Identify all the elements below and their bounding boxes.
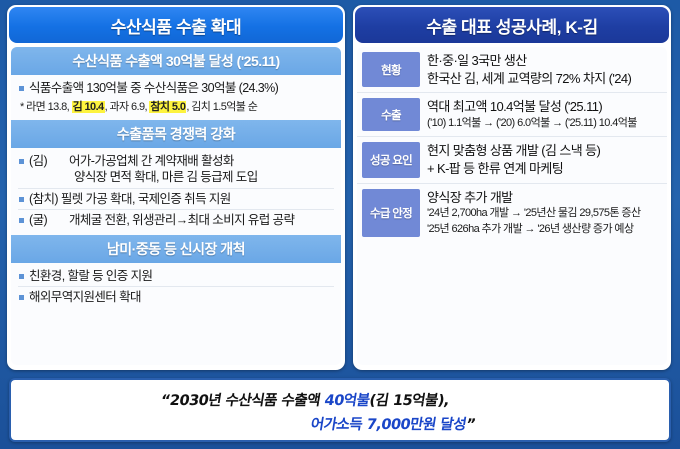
quote-text: (김 15억불), [368,393,450,409]
row-line-sub: ('10) 1.1억불 → ('20) 6.0억불 → ('25.11) 10.… [427,116,661,131]
table-row: 성공 요인 현지 맞춤형 상품 개발 (김 스낵 등) + K-팝 등 한류 연… [357,136,667,182]
row-label-supply-stability: 수급 안정 [362,189,420,237]
bullet-item: (굴)개체굴 전환, 위생관리→최대 소비지 유럽 공략 [18,209,334,231]
section-note-breakdown: * 라면 13.8, 김 10.4, 과자 6.9, 참치 5.0, 김치 1.… [18,99,334,116]
bullet-square-icon [19,274,24,279]
quote-text: ” [465,417,477,433]
row-line: 양식장 추가 개발 [427,189,661,207]
bullet-tag-tuna: (참치) [29,192,58,206]
note-part: , 과자 6.9, [105,101,150,113]
table-row: 수출 역대 최고액 10.4억불 달성 ('25.11) ('10) 1.1억불… [357,92,667,136]
right-panel-body: 현황 한·중·일 3국만 생산 한국산 김, 세계 교역량의 72% 차지 ('… [357,47,667,365]
goal-quote-line-2: 어가소득 7,000만원 달성” [309,413,477,434]
panels-container: 수산식품 수출 확대 수산식품 수출액 30억불 달성 ('25.11) 식품수… [0,0,680,370]
row-label-status: 현황 [362,52,420,87]
goal-quote-line-1: “2030년 수산식품 수출액 40억불(김 15억불), [159,389,450,410]
bullet-item: 식품수출액 130억불 중 수산식품은 30억불 (24.3%) [18,78,334,99]
row-line: 역대 최고액 10.4억불 달성 ('25.11) [427,98,661,116]
goal-banner: “2030년 수산식품 수출액 40억불(김 15억불), 어가소득 7,000… [9,378,671,442]
section-heading-competitiveness: 수출품목 경쟁력 강화 [11,120,341,148]
bullet-tag-oyster: (굴) [29,212,69,229]
bullet-item: (참치) 필렛 가공 확대, 국제인증 취득 지원 [18,188,334,210]
note-highlight-tuna: 참치 5.0 [149,101,186,113]
quote-text: “2030년 수산식품 수출액 [159,393,325,409]
bullet-text: 어가-가공업체 간 계약재배 활성화 [69,154,234,168]
right-panel-title: 수출 대표 성공사례, K-김 [355,7,669,43]
bullet-tag-gim: (김) [29,153,69,170]
bullet-square-icon [19,86,24,91]
table-row: 수급 안정 양식장 추가 개발 '24년 2,700ha 개발 → '25년산 … [357,183,667,242]
bullet-item: 해외무역지원센터 확대 [18,286,334,308]
row-line: 현지 맞춤형 상품 개발 (김 스낵 등) [427,142,661,160]
row-content: 역대 최고액 10.4억불 달성 ('25.11) ('10) 1.1억불 → … [427,98,661,131]
note-part: , 김치 1.5억불 순 [186,101,257,113]
bullet-text: 친환경, 할랄 등 인증 지원 [29,268,334,285]
bullet-text: 해외무역지원센터 확대 [29,289,334,306]
bullet-text-secondary: 양식장 면적 확대, 마른 김 등급제 도입 [29,169,334,186]
row-label-success-factor: 성공 요인 [362,142,420,177]
section-body-exports: 식품수출액 130억불 중 수산식품은 30억불 (24.3%) * 라면 13… [11,75,341,120]
note-highlight-gim: 김 10.4 [72,101,105,113]
bullet-item: 친환경, 할랄 등 인증 지원 [18,266,334,287]
bullet-item: (김)어가-가공업체 간 계약재배 활성화 양식장 면적 확대, 마른 김 등급… [18,151,334,188]
row-content: 현지 맞춤형 상품 개발 (김 스낵 등) + K-팝 등 한류 연계 마케팅 [427,142,661,177]
quote-accent-amount: 40억불 [323,393,370,409]
row-line: 한국산 김, 세계 교역량의 72% 차지 ('24) [427,70,661,88]
row-label-export: 수출 [362,98,420,131]
quote-accent-income: 어가소득 7,000만원 달성 [309,417,467,433]
bullet-text: 식품수출액 130억불 중 수산식품은 30억불 (24.3%) [29,80,334,97]
row-line: + K-팝 등 한류 연계 마케팅 [427,160,661,178]
left-panel-title: 수산식품 수출 확대 [9,7,343,43]
section-body-competitiveness: (김)어가-가공업체 간 계약재배 활성화 양식장 면적 확대, 마른 김 등급… [11,148,341,235]
left-panel: 수산식품 수출 확대 수산식품 수출액 30억불 달성 ('25.11) 식품수… [7,5,345,370]
section-heading-exports: 수산식품 수출액 30억불 달성 ('25.11) [11,47,341,75]
left-panel-body: 수산식품 수출액 30억불 달성 ('25.11) 식품수출액 130억불 중 … [11,47,341,365]
section-body-new-markets: 친환경, 할랄 등 인증 지원 해외무역지원센터 확대 [11,263,341,312]
right-panel: 수출 대표 성공사례, K-김 현황 한·중·일 3국만 생산 한국산 김, 세… [353,5,671,370]
bullet-square-icon [19,197,24,202]
bullet-text: 개체굴 전환, 위생관리→최대 소비지 유럽 공략 [69,213,294,227]
row-content: 양식장 추가 개발 '24년 2,700ha 개발 → '25년산 물김 29,… [427,189,661,237]
row-content: 한·중·일 3국만 생산 한국산 김, 세계 교역량의 72% 차지 ('24) [427,52,661,87]
row-line: 한·중·일 3국만 생산 [427,52,661,70]
row-line-sub: '24년 2,700ha 개발 → '25년산 물김 29,575톤 증산 [427,206,661,221]
bullet-square-icon [19,159,24,164]
note-part: * 라면 13.8, [20,101,72,113]
bullet-square-icon [19,295,24,300]
table-row: 현황 한·중·일 3국만 생산 한국산 김, 세계 교역량의 72% 차지 ('… [357,47,667,92]
row-line-sub: '25년 626ha 추가 개발 → '26년 생산량 증가 예상 [427,222,661,237]
bullet-square-icon [19,218,24,223]
bullet-text: 필렛 가공 확대, 국제인증 취득 지원 [61,192,231,206]
section-heading-new-markets: 남미·중동 등 신시장 개척 [11,235,341,263]
